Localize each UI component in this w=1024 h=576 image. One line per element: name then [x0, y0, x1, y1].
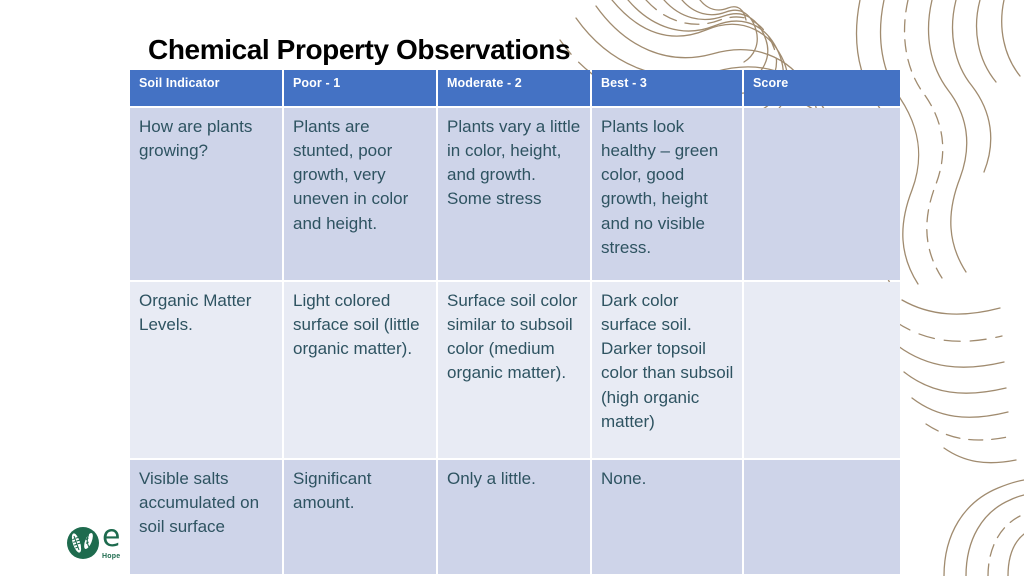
- cell-indicator: Visible salts accumulated on soil surfac…: [130, 460, 282, 574]
- leaf-globe-icon: [66, 526, 100, 560]
- cell-score[interactable]: [744, 108, 900, 280]
- cell-poor: Plants are stunted, poor growth, very un…: [284, 108, 436, 280]
- cell-score[interactable]: [744, 460, 900, 574]
- cell-moderate: Only a little.: [438, 460, 590, 574]
- cell-score[interactable]: [744, 282, 900, 458]
- cell-indicator: How are plants growing?: [130, 108, 282, 280]
- column-header-soil-indicator: Soil Indicator: [130, 70, 282, 106]
- column-header-best: Best - 3: [592, 70, 742, 106]
- logo-letter: e: [102, 522, 120, 552]
- table-row: Visible salts accumulated on soil surfac…: [130, 460, 900, 574]
- organization-logo: e Hope: [66, 524, 132, 570]
- chemical-property-observations-table: Soil Indicator Poor - 1 Moderate - 2 Bes…: [128, 68, 902, 576]
- table-header-row: Soil Indicator Poor - 1 Moderate - 2 Bes…: [130, 70, 900, 106]
- table-row: How are plants growing? Plants are stunt…: [130, 108, 900, 280]
- cell-poor: Light colored surface soil (little organ…: [284, 282, 436, 458]
- page-title: Chemical Property Observations: [148, 34, 570, 66]
- cell-moderate: Plants vary a little in color, height, a…: [438, 108, 590, 280]
- column-header-moderate: Moderate - 2: [438, 70, 590, 106]
- cell-poor: Significant amount.: [284, 460, 436, 574]
- cell-best: None.: [592, 460, 742, 574]
- cell-moderate: Surface soil color similar to subsoil co…: [438, 282, 590, 458]
- column-header-poor: Poor - 1: [284, 70, 436, 106]
- cell-indicator: Organic Matter Levels.: [130, 282, 282, 458]
- column-header-score: Score: [744, 70, 900, 106]
- cell-best: Plants look healthy – green color, good …: [592, 108, 742, 280]
- cell-best: Dark color surface soil. Darker topsoil …: [592, 282, 742, 458]
- logo-tagline: Hope: [102, 553, 120, 560]
- table-row: Organic Matter Levels. Light colored sur…: [130, 282, 900, 458]
